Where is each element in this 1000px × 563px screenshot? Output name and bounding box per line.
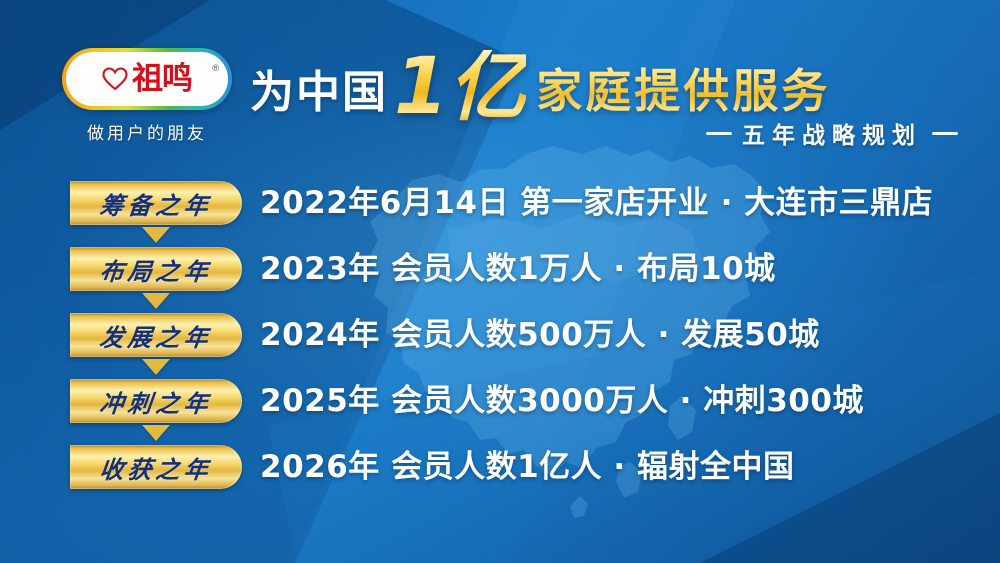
- headline-suffix: 家庭提供服务: [536, 55, 830, 121]
- headline-main-row: 为中国 1亿 家庭提供服务: [250, 44, 970, 121]
- brand-logo: 祖鸣 ® 做用户的朋友: [52, 48, 242, 144]
- timeline-row: 筹备之年 2022年6月14日 第一家店开业 · 大连市三鼎店: [70, 181, 980, 247]
- timeline-badge-label: 筹备之年: [98, 186, 214, 221]
- down-arrow-icon: [142, 425, 170, 441]
- timeline-badge-label: 布局之年: [98, 252, 214, 287]
- timeline-row-text: 2023年 会员人数1万人 · 布局10城: [260, 247, 776, 289]
- registered-mark-icon: ®: [212, 63, 219, 73]
- headline-subtitle-row: 五年战略规划: [706, 116, 958, 150]
- heart-icon: [102, 67, 128, 91]
- timeline-badge[interactable]: 发展之年: [70, 313, 242, 357]
- timeline-badge-label: 收获之年: [98, 450, 214, 485]
- headline-subtitle: 五年战略规划: [742, 116, 922, 150]
- down-arrow-icon: [142, 293, 170, 309]
- timeline-row-text: 2025年 会员人数3000万人 · 冲刺300城: [260, 379, 864, 421]
- timeline-list: 筹备之年 2022年6月14日 第一家店开业 · 大连市三鼎店 布局之年 202…: [70, 181, 980, 511]
- rule-left-icon: [706, 132, 732, 135]
- timeline-badge[interactable]: 布局之年: [70, 247, 242, 291]
- logo-brand-text: 祖鸣: [132, 64, 192, 95]
- poster-canvas: 祖鸣 ® 做用户的朋友 为中国 1亿 家庭提供服务 五年战略规划 筹备之年 20…: [0, 0, 1000, 563]
- headline-number: 1亿: [394, 50, 526, 124]
- headline-block: 为中国 1亿 家庭提供服务 五年战略规划: [250, 44, 970, 154]
- logo-badge-frame: 祖鸣 ®: [62, 48, 232, 110]
- timeline-row: 发展之年 2024年 会员人数500万人 · 发展50城: [70, 313, 980, 379]
- timeline-row-text: 2024年 会员人数500万人 · 发展50城: [260, 313, 820, 355]
- headline-prefix: 为中国: [250, 56, 388, 120]
- timeline-badge[interactable]: 筹备之年: [70, 181, 242, 225]
- down-arrow-icon: [142, 359, 170, 375]
- timeline-badge[interactable]: 收获之年: [70, 445, 242, 489]
- timeline-badge-label: 冲刺之年: [98, 384, 214, 419]
- logo-badge-inner: 祖鸣 ®: [66, 52, 228, 106]
- timeline-row: 冲刺之年 2025年 会员人数3000万人 · 冲刺300城: [70, 379, 980, 445]
- logo-tagline: 做用户的朋友: [52, 119, 242, 144]
- timeline-row: 收获之年 2026年 会员人数1亿人 · 辐射全中国: [70, 445, 980, 511]
- rule-right-icon: [932, 132, 958, 135]
- timeline-badge-label: 发展之年: [98, 318, 214, 353]
- timeline-row-text: 2022年6月14日 第一家店开业 · 大连市三鼎店: [260, 181, 933, 223]
- timeline-badge[interactable]: 冲刺之年: [70, 379, 242, 423]
- timeline-row: 布局之年 2023年 会员人数1万人 · 布局10城: [70, 247, 980, 313]
- down-arrow-icon: [142, 227, 170, 243]
- timeline-row-text: 2026年 会员人数1亿人 · 辐射全中国: [260, 445, 795, 487]
